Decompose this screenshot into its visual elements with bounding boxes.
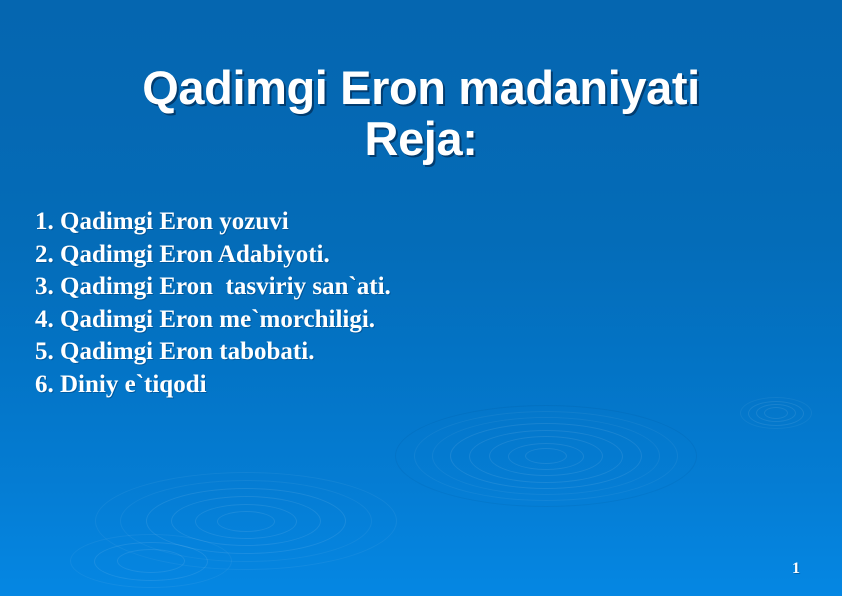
slide-title: Qadimgi Eron madaniyati Reja: (0, 62, 842, 164)
list-item: 6. Diniy e`tiqodi (35, 369, 775, 402)
list-item: 2. Qadimgi Eron Adabiyoti. (35, 239, 775, 272)
slide-number: 1 (792, 560, 800, 578)
title-line-2: Reja: (0, 113, 842, 164)
title-line-1: Qadimgi Eron madaniyati (0, 62, 842, 113)
list-item: 3. Qadimgi Eron tasviriy san`ati. (35, 271, 775, 304)
list-item: 5. Qadimgi Eron tabobati. (35, 336, 775, 369)
list-item: 4. Qadimgi Eron me`morchiligi. (35, 304, 775, 337)
presentation-slide: Qadimgi Eron madaniyati Reja: 1. Qadimgi… (0, 0, 842, 596)
list-item: 1. Qadimgi Eron yozuvi (35, 206, 775, 239)
agenda-list: 1. Qadimgi Eron yozuvi 2. Qadimgi Eron A… (35, 206, 775, 402)
